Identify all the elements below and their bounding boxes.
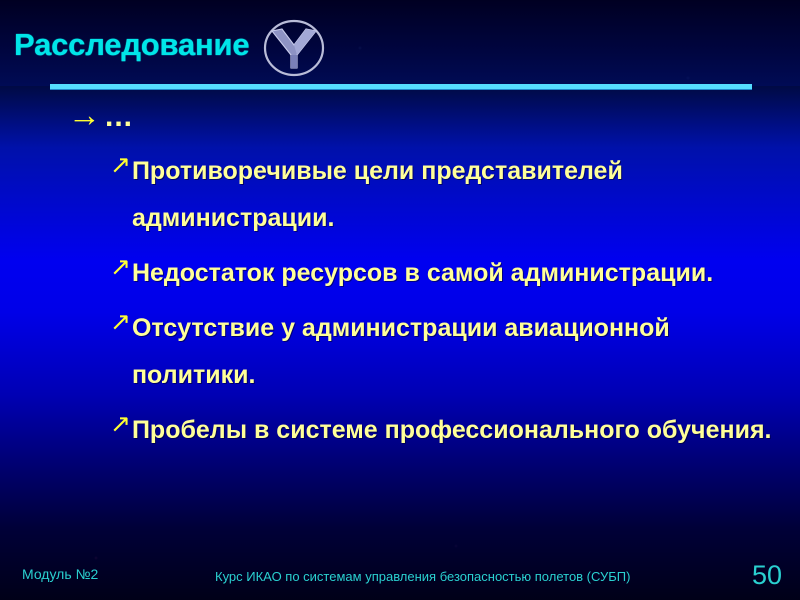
north-east-arrow-bullet-icon: ↗ [110, 252, 131, 282]
footer-course-label: Курс ИКАО по системам управления безопас… [215, 569, 630, 584]
footer-module-label: Модуль №2 [22, 566, 98, 582]
lead-bullet-row: → ... [0, 98, 800, 148]
list-item-label: Недостаток ресурсов в самой администраци… [132, 250, 713, 297]
list-item: ↗ Противоречивые цели представителей адм… [0, 148, 800, 242]
page-title: Расследование [14, 27, 249, 63]
north-east-arrow-bullet-icon: ↗ [110, 150, 131, 180]
list-item-label: Пробелы в системе профессионального обуч… [132, 407, 772, 454]
list-item: ↗ Пробелы в системе профессионального об… [0, 407, 800, 454]
title-divider [50, 84, 752, 89]
list-item-label: Отсутствие у администрации авиационной п… [132, 305, 780, 399]
icao-y-emblem-icon [262, 18, 326, 78]
list-item: ↗ Недостаток ресурсов в самой администра… [0, 250, 800, 297]
north-east-arrow-bullet-icon: ↗ [110, 409, 131, 439]
right-arrow-bullet-icon: → [68, 98, 101, 132]
north-east-arrow-bullet-icon: ↗ [110, 307, 131, 337]
lead-bullet-label: ... [105, 98, 133, 136]
slide: Расследование → ... ↗ Противоречивые цел… [0, 0, 800, 600]
list-item: ↗ Отсутствие у администрации авиационной… [0, 305, 800, 399]
bullet-list: → ... ↗ Противоречивые цели представител… [0, 98, 800, 462]
page-number: 50 [752, 560, 782, 591]
list-item-label: Противоречивые цели представителей админ… [132, 148, 780, 242]
